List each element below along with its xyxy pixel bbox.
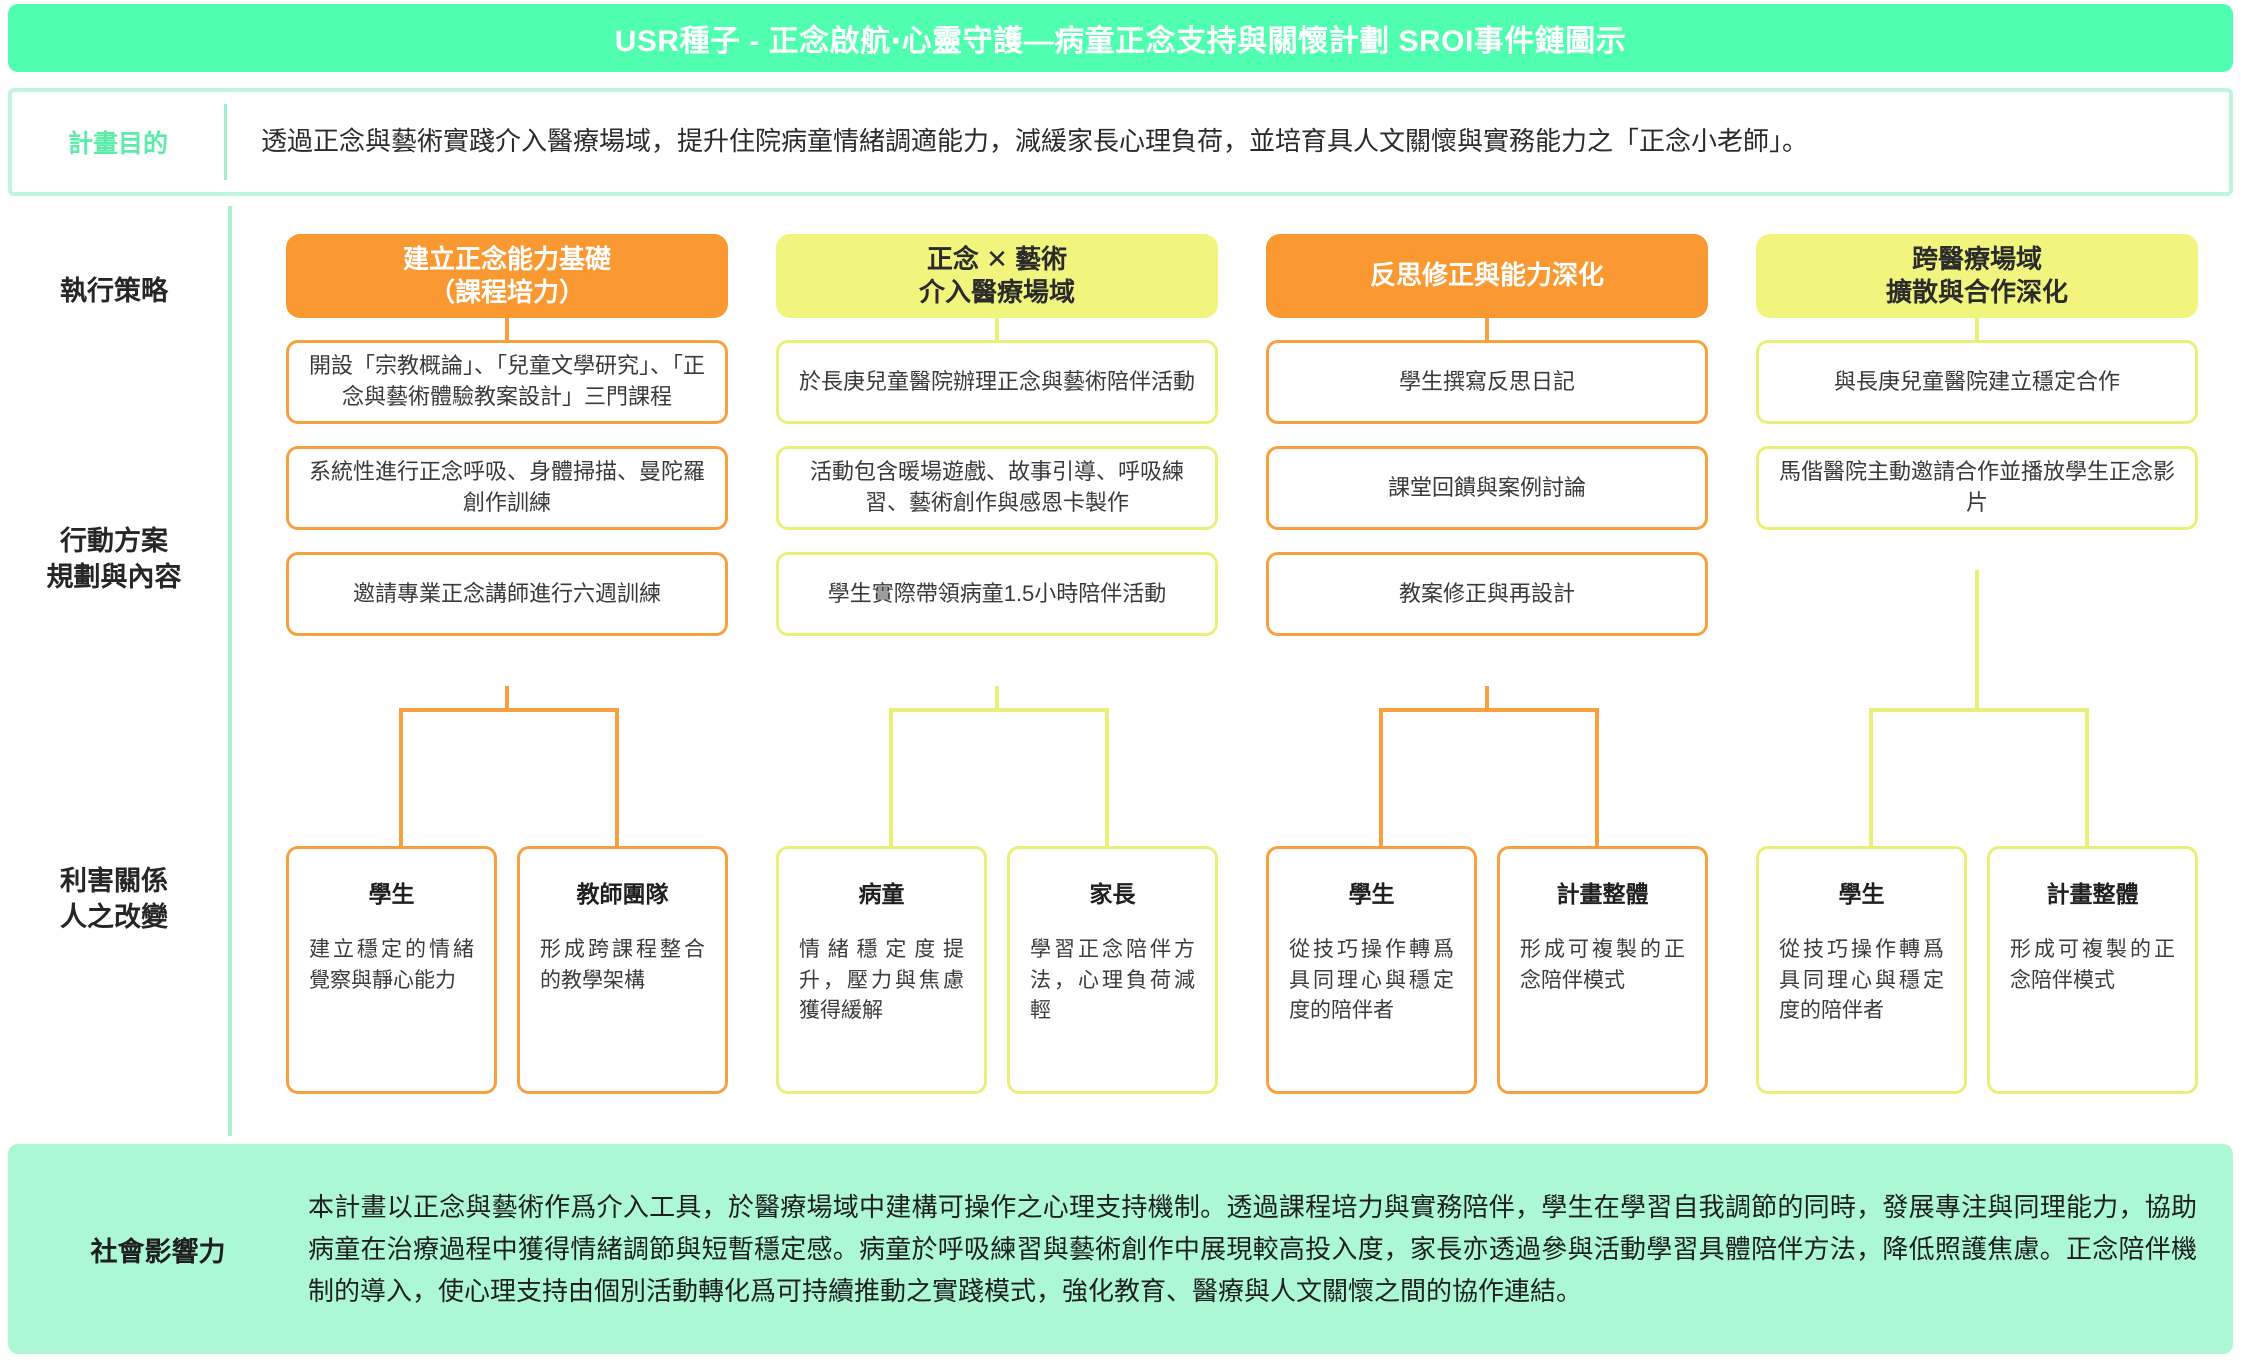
strategy-card[interactable]: 反思修正與能力深化 bbox=[1266, 234, 1708, 318]
strategy-card-line1: 反思修正與能力深化 bbox=[1370, 259, 1604, 292]
stakeholder-row: 學生 從技巧操作轉爲具同理心與穩定度的陪伴者 計畫整體 形成可複製的正念陪伴模式 bbox=[1756, 846, 2198, 1094]
stakeholder-title: 病童 bbox=[799, 875, 964, 909]
stakeholder-title: 學生 bbox=[309, 875, 474, 909]
connector-line bbox=[2085, 708, 2089, 846]
action-plan-list: 學生撰寫反思日記 課堂回饋與案例討論 教案修正與再設計 bbox=[1266, 340, 1708, 636]
stakeholder-card[interactable]: 病童 情緒穩定度提升，壓力與焦慮獲得緩解 bbox=[776, 846, 987, 1094]
action-box[interactable]: 與長庚兒童醫院建立穩定合作 bbox=[1756, 340, 2198, 424]
row-label-stakeholder-line2: 人之改變 bbox=[0, 900, 228, 936]
connector-branch-bar bbox=[1869, 708, 2085, 712]
stakeholder-title: 計畫整體 bbox=[2010, 875, 2175, 909]
connector-branch-bar bbox=[1379, 708, 1595, 712]
page-title: USR種子 - 正念啟航‧心靈守護—病童正念支持與關懷計劃 SROI事件鏈圖示 bbox=[615, 16, 1627, 60]
matrix-vertical-divider bbox=[228, 206, 232, 1136]
project-purpose-section: 計畫目的 透過正念與藝術實踐介入醫療場域，提升住院病童情緒調適能力，減緩家長心理… bbox=[8, 88, 2233, 196]
stakeholder-body: 從技巧操作轉爲具同理心與穩定度的陪伴者 bbox=[1289, 935, 1454, 1027]
row-label-strategy: 執行策略 bbox=[0, 274, 228, 310]
stakeholder-card[interactable]: 學生 從技巧操作轉爲具同理心與穩定度的陪伴者 bbox=[1756, 846, 1967, 1094]
action-box[interactable]: 開設「宗教概論」、「兒童文學研究」、「正念與藝術體驗教案設計」三門課程 bbox=[286, 340, 728, 424]
action-box[interactable]: 教案修正與再設計 bbox=[1266, 552, 1708, 636]
action-box[interactable]: 學生撰寫反思日記 bbox=[1266, 340, 1708, 424]
strategy-card[interactable]: 正念 ✕ 藝術 介入醫療場域 bbox=[776, 234, 1218, 318]
connector-branch-bar bbox=[399, 708, 615, 712]
strategy-columns: 建立正念能力基礎 （課程培力） 開設「宗教概論」、「兒童文學研究」、「正念與藝術… bbox=[262, 206, 2222, 1136]
stakeholder-row: 學生 建立穩定的情緒覺察與靜心能力 教師團隊 形成跨課程整合的教學架構 bbox=[286, 846, 728, 1094]
purpose-label: 計畫目的 bbox=[12, 92, 224, 192]
row-label-action-line2: 規劃與內容 bbox=[0, 560, 228, 596]
action-box[interactable]: 課堂回饋與案例討論 bbox=[1266, 446, 1708, 530]
row-label-stakeholder-change: 利害關係 人之改變 bbox=[0, 864, 228, 936]
strategy-card[interactable]: 跨醫療場域 擴散與合作深化 bbox=[1756, 234, 2198, 318]
action-box[interactable]: 活動包含暖場遊戲、故事引導、呼吸練習、藝術創作與感恩卡製作 bbox=[776, 446, 1218, 530]
row-label-action-plan: 行動方案 規劃與內容 bbox=[0, 524, 228, 596]
strategy-card-line2: （課程培力） bbox=[403, 276, 611, 309]
action-box[interactable]: 於長庚兒童醫院辦理正念與藝術陪伴活動 bbox=[776, 340, 1218, 424]
stakeholder-card[interactable]: 教師團隊 形成跨課程整合的教學架構 bbox=[517, 846, 728, 1094]
stakeholder-card[interactable]: 學生 從技巧操作轉爲具同理心與穩定度的陪伴者 bbox=[1266, 846, 1477, 1094]
connector-line bbox=[399, 708, 403, 846]
connector-line bbox=[1595, 708, 1599, 846]
connector-branch-bar bbox=[889, 708, 1105, 712]
action-box[interactable]: 學生實際帶領病童1.5小時陪伴活動 bbox=[776, 552, 1218, 636]
connector-line bbox=[1975, 570, 1979, 710]
row-label-column: 執行策略 行動方案 規劃與內容 利害關係 人之改變 bbox=[0, 206, 228, 1136]
stakeholder-row: 病童 情緒穩定度提升，壓力與焦慮獲得緩解 家長 學習正念陪伴方法，心理負荷減輕 bbox=[776, 846, 1218, 1094]
action-plan-list: 開設「宗教概論」、「兒童文學研究」、「正念與藝術體驗教案設計」三門課程 系統性進… bbox=[286, 340, 728, 636]
page-title-bar: USR種子 - 正念啟航‧心靈守護—病童正念支持與關懷計劃 SROI事件鏈圖示 bbox=[8, 4, 2233, 72]
connector-line bbox=[1379, 708, 1383, 846]
connector-line bbox=[1869, 708, 1873, 846]
strategy-card-line2: 介入醫療場域 bbox=[919, 276, 1075, 309]
stakeholder-body: 從技巧操作轉爲具同理心與穩定度的陪伴者 bbox=[1779, 935, 1944, 1027]
social-impact-label: 社會影響力 bbox=[8, 1230, 308, 1269]
stakeholder-title: 教師團隊 bbox=[540, 875, 705, 909]
stakeholder-card[interactable]: 家長 學習正念陪伴方法，心理負荷減輕 bbox=[1007, 846, 1218, 1094]
strategy-card[interactable]: 建立正念能力基礎 （課程培力） bbox=[286, 234, 728, 318]
strategy-column-2: 正念 ✕ 藝術 介入醫療場域 於長庚兒童醫院辦理正念與藝術陪伴活動 活動包含暖場… bbox=[752, 206, 1242, 1136]
strategy-card-line1: 建立正念能力基礎 bbox=[403, 243, 611, 276]
connector-line bbox=[505, 686, 509, 710]
strategy-card-line2: 擴散與合作深化 bbox=[1886, 276, 2068, 309]
stakeholder-card[interactable]: 計畫整體 形成可複製的正念陪伴模式 bbox=[1497, 846, 1708, 1094]
connector-line bbox=[889, 708, 893, 846]
stakeholder-card[interactable]: 計畫整體 形成可複製的正念陪伴模式 bbox=[1987, 846, 2198, 1094]
stakeholder-body: 建立穩定的情緒覺察與靜心能力 bbox=[309, 935, 474, 996]
action-plan-list: 於長庚兒童醫院辦理正念與藝術陪伴活動 活動包含暖場遊戲、故事引導、呼吸練習、藝術… bbox=[776, 340, 1218, 636]
action-plan-list: 與長庚兒童醫院建立穩定合作 馬偕醫院主動邀請合作並播放學生正念影片 bbox=[1756, 340, 2198, 530]
strategy-card-line1: 跨醫療場域 bbox=[1886, 243, 2068, 276]
strategy-column-3: 反思修正與能力深化 學生撰寫反思日記 課堂回饋與案例討論 教案修正與再設計 學生… bbox=[1242, 206, 1732, 1136]
connector-line bbox=[995, 686, 999, 710]
stakeholder-body: 形成跨課程整合的教學架構 bbox=[540, 935, 705, 996]
row-label-stakeholder-line1: 利害關係 bbox=[0, 864, 228, 900]
strategy-column-4: 跨醫療場域 擴散與合作深化 與長庚兒童醫院建立穩定合作 馬偕醫院主動邀請合作並播… bbox=[1732, 206, 2222, 1136]
social-impact-text: 本計畫以正念與藝術作爲介入工具，於醫療場域中建構可操作之心理支持機制。透過課程培… bbox=[308, 1186, 2233, 1312]
stakeholder-body: 形成可複製的正念陪伴模式 bbox=[1520, 935, 1685, 996]
action-box[interactable]: 馬偕醫院主動邀請合作並播放學生正念影片 bbox=[1756, 446, 2198, 530]
stakeholder-title: 學生 bbox=[1289, 875, 1454, 909]
connector-line bbox=[1485, 686, 1489, 710]
stakeholder-row: 學生 從技巧操作轉爲具同理心與穩定度的陪伴者 計畫整體 形成可複製的正念陪伴模式 bbox=[1266, 846, 1708, 1094]
stakeholder-title: 家長 bbox=[1030, 875, 1195, 909]
stakeholder-card[interactable]: 學生 建立穩定的情緒覺察與靜心能力 bbox=[286, 846, 497, 1094]
stakeholder-body: 情緒穩定度提升，壓力與焦慮獲得緩解 bbox=[799, 935, 964, 1027]
action-box[interactable]: 系統性進行正念呼吸、身體掃描、曼陀羅創作訓練 bbox=[286, 446, 728, 530]
stakeholder-title: 計畫整體 bbox=[1520, 875, 1685, 909]
stakeholder-body: 學習正念陪伴方法，心理負荷減輕 bbox=[1030, 935, 1195, 1027]
action-box[interactable]: 邀請專業正念講師進行六週訓練 bbox=[286, 552, 728, 636]
strategy-card-line1: 正念 ✕ 藝術 bbox=[919, 243, 1075, 276]
stakeholder-body: 形成可複製的正念陪伴模式 bbox=[2010, 935, 2175, 996]
row-label-action-line1: 行動方案 bbox=[0, 524, 228, 560]
stakeholder-title: 學生 bbox=[1779, 875, 1944, 909]
purpose-text: 透過正念與藝術實踐介入醫療場域，提升住院病童情緒調適能力，減緩家長心理負荷，並培… bbox=[227, 92, 2229, 192]
connector-line bbox=[1105, 708, 1109, 846]
strategy-column-1: 建立正念能力基礎 （課程培力） 開設「宗教概論」、「兒童文學研究」、「正念與藝術… bbox=[262, 206, 752, 1136]
connector-line bbox=[615, 708, 619, 846]
sroi-event-chain-matrix: 執行策略 行動方案 規劃與內容 利害關係 人之改變 建立正念能力基礎 （課程培力… bbox=[0, 206, 2241, 1136]
social-impact-section: 社會影響力 本計畫以正念與藝術作爲介入工具，於醫療場域中建構可操作之心理支持機制… bbox=[8, 1144, 2233, 1354]
